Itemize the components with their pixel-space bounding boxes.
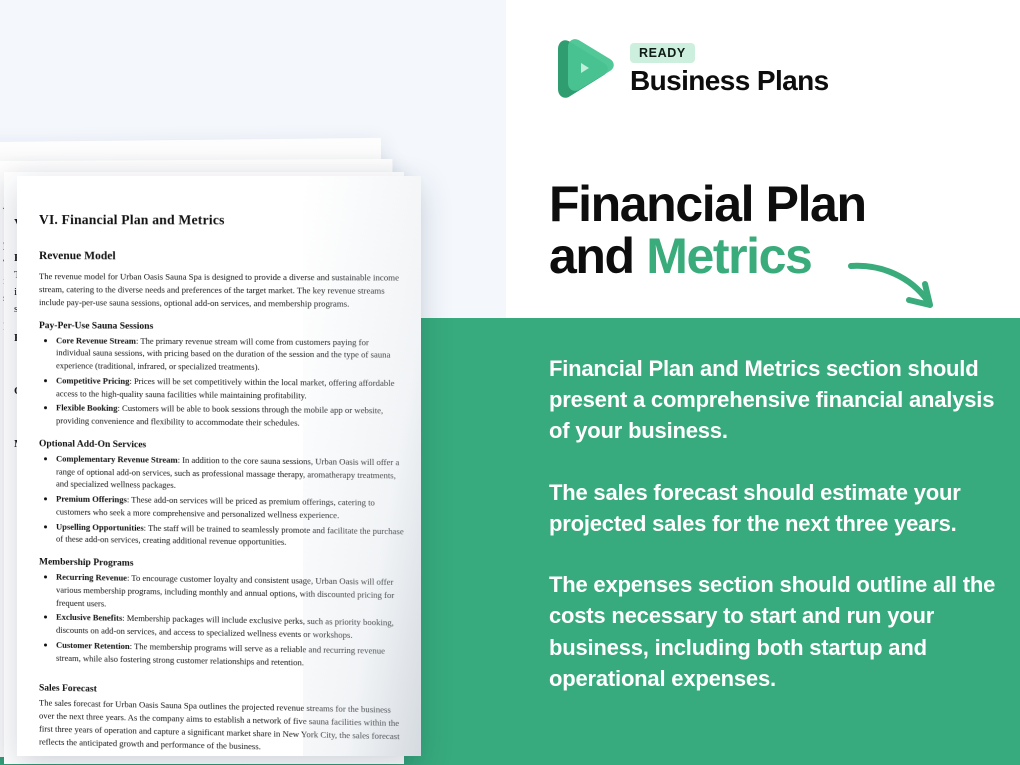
slide-canvas: V R T in st P O M V Re Th inc str Pa Op …: [0, 0, 1020, 765]
list-item-term: Recurring Revenue: [56, 572, 127, 583]
list-add-on-services: Complementary Revenue Stream: In additio…: [39, 452, 405, 551]
list-item-term: Competitive Pricing: [56, 375, 129, 386]
list-item-term: Complementary Revenue Stream: [56, 453, 178, 464]
list-item: Premium Offerings: These add-on services…: [56, 493, 404, 523]
document-content: VI. Financial Plan and Metrics Revenue M…: [17, 176, 421, 756]
document-title: VI. Financial Plan and Metrics: [39, 212, 405, 229]
page-title-accent: Metrics: [646, 228, 811, 284]
panel-paragraph-1: Financial Plan and Metrics section shoul…: [549, 353, 1001, 447]
paragraph-sales-forecast: The sales forecast for Urban Oasis Sauna…: [39, 697, 405, 756]
page-title-plain: and: [549, 228, 646, 284]
list-membership-programs: Recurring Revenue: To encourage customer…: [39, 571, 405, 671]
play-triangle-logo-icon: [548, 33, 614, 105]
paragraph-revenue-model: The revenue model for Urban Oasis Sauna …: [39, 270, 405, 311]
heading-pay-per-use: Pay-Per-Use Sauna Sessions: [39, 321, 405, 333]
list-item-term: Premium Offerings: [56, 494, 127, 505]
panel-paragraph-2: The sales forecast should estimate your …: [549, 477, 1001, 539]
ready-badge: READY: [630, 43, 695, 63]
heading-revenue-model: Revenue Model: [39, 250, 405, 263]
brand-logo[interactable]: READY Business Plans: [548, 33, 829, 105]
list-item: Core Revenue Stream: The primary revenue…: [56, 334, 404, 375]
list-item: Competitive Pricing: Prices will be set …: [56, 374, 404, 403]
list-item: Upselling Opportunities: The staff will …: [56, 520, 404, 551]
list-pay-per-use: Core Revenue Stream: The primary revenue…: [39, 334, 405, 431]
list-item: Exclusive Benefits: Membership packages …: [56, 611, 404, 643]
list-item: Customer Retention: The membership progr…: [56, 639, 404, 671]
page-title-line-1: Financial Plan: [549, 178, 989, 230]
list-item: Flexible Booking: Customers will be able…: [56, 402, 404, 431]
list-item: Complementary Revenue Stream: In additio…: [56, 452, 404, 495]
list-item-term: Upselling Opportunities: [56, 521, 144, 532]
list-item: Recurring Revenue: To encourage customer…: [56, 571, 404, 615]
list-item-term: Customer Retention: [56, 640, 130, 651]
brand-name: Business Plans: [630, 67, 829, 95]
list-item-term: Flexible Booking: [56, 403, 117, 414]
heading-add-on-services: Optional Add-On Services: [39, 439, 405, 453]
logo-text-block: READY Business Plans: [630, 43, 829, 95]
panel-description: Financial Plan and Metrics section shoul…: [549, 353, 1001, 694]
list-item-term: Exclusive Benefits: [56, 612, 122, 623]
curved-arrow-icon: [845, 258, 945, 320]
panel-paragraph-3: The expenses section should outline all …: [549, 569, 1001, 694]
document-page-front[interactable]: VI. Financial Plan and Metrics Revenue M…: [17, 176, 421, 756]
list-item-term: Core Revenue Stream: [56, 335, 136, 346]
